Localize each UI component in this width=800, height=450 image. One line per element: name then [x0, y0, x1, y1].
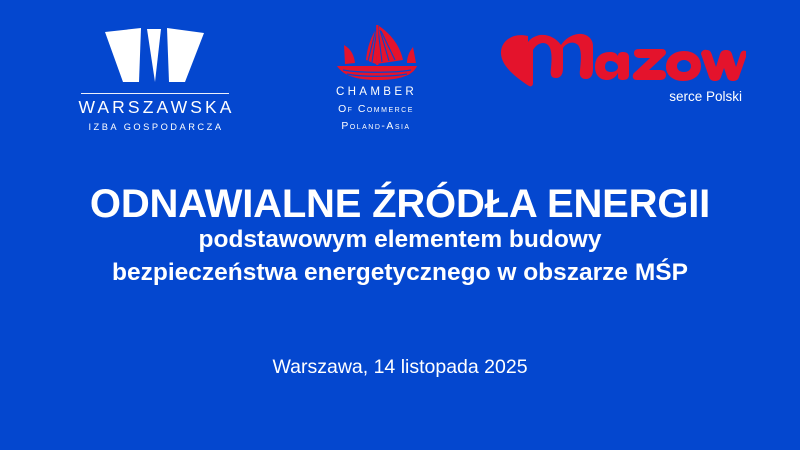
logo-subtitle-izba-gospodarcza: IZBA GOSPODARCZA — [86, 123, 223, 132]
logo-mazowsze: serce Polski — [498, 18, 750, 104]
slide-subtitle-line-1: podstawowym elementem budowy — [0, 224, 800, 257]
logo-divider-rule — [81, 93, 229, 94]
sponsor-logo-bar: WARSZAWSKA IZBA GOSPODARCZA — [0, 18, 800, 136]
logo-name-warszawska: WARSZAWSKA — [75, 99, 234, 117]
mazowsze-heart-wordmark-icon — [498, 30, 746, 88]
logo-line-chamber: CHAMBER — [333, 86, 417, 98]
logo-warszawska-izba-gospodarcza: WARSZAWSKA IZBA GOSPODARCZA — [50, 18, 260, 132]
chinese-junk-ship-icon — [321, 22, 429, 84]
logo-line-of-commerce: Of Commerce — [336, 105, 414, 115]
slide-dateline: Warszawa, 14 listopada 2025 — [0, 358, 800, 378]
slide-subtitle: podstawowym elementem budowy bezpieczeńs… — [0, 224, 800, 290]
w-triangles-icon — [103, 26, 207, 84]
logo-claim-serce-polski: serce Polski — [669, 90, 742, 104]
slide-headline: ODNAWIALNE ŹRÓDŁA ENERGII — [0, 182, 800, 227]
logo-chamber-of-commerce-poland-asia: CHAMBER Of Commerce Poland-Asia — [300, 18, 450, 132]
logo-line-poland-asia: Poland-Asia — [339, 122, 410, 132]
slide-subtitle-line-2: bezpieczeństwa energetycznego w obszarze… — [0, 257, 800, 290]
presentation-title-slide: WARSZAWSKA IZBA GOSPODARCZA — [0, 0, 800, 450]
